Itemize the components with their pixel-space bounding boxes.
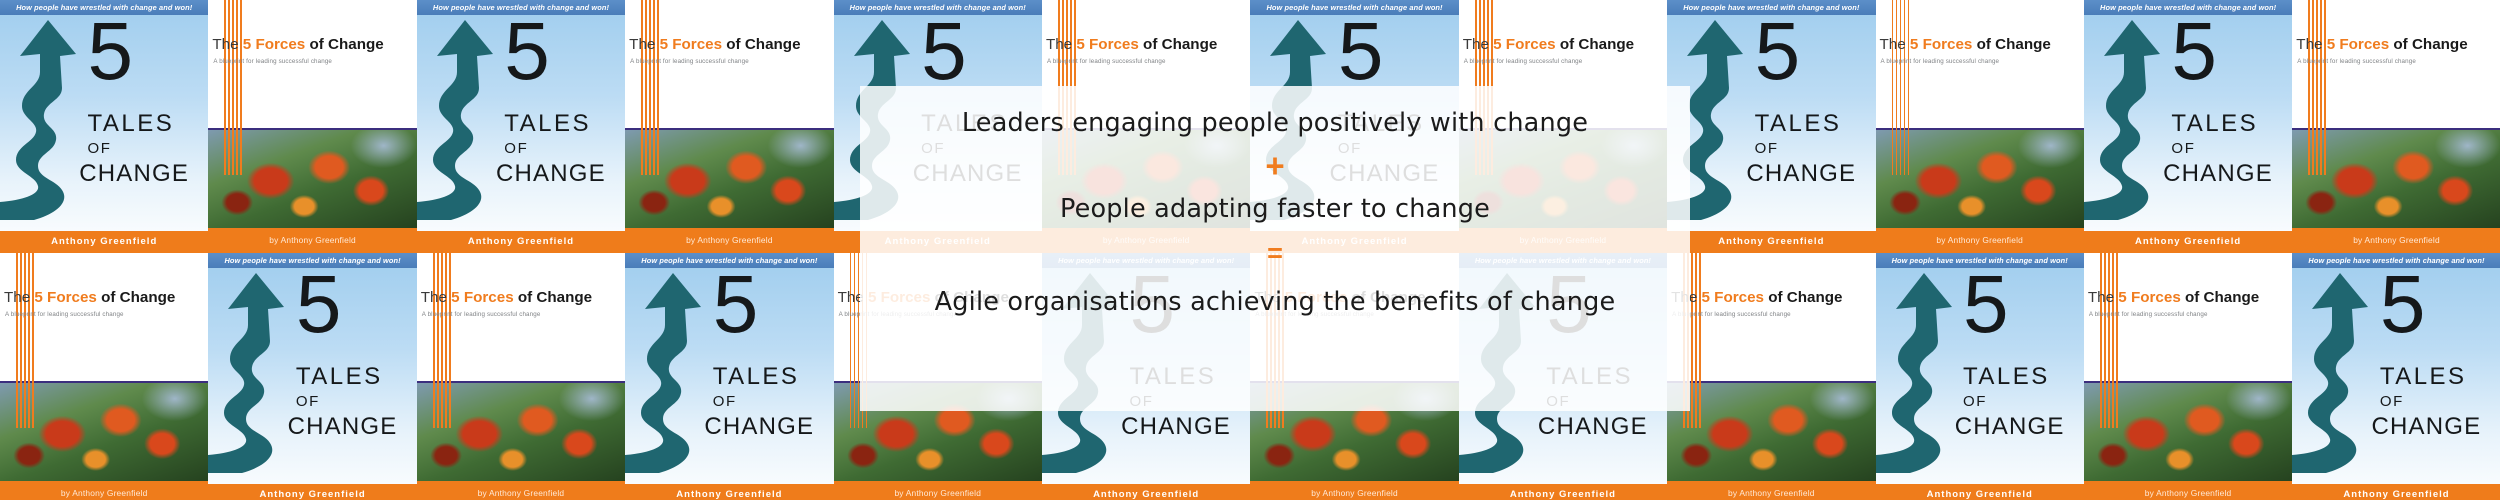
cover-word-tales: TALES (1963, 363, 2080, 391)
equation-overlay-panel: Leaders engaging people positively with … (860, 86, 1690, 411)
cover-word-change: CHANGE (2163, 160, 2292, 188)
cover-word-tales: TALES (88, 110, 205, 138)
cover-author-bar: Anthony Greenfield (2084, 231, 2292, 253)
cover-title-of-change: of Change (1556, 36, 1634, 53)
cover-word-change: CHANGE (704, 413, 833, 441)
cover-title: The 5 Forces of Change (4, 289, 204, 306)
cover-subtitle: A blueprint for leading successful chang… (5, 311, 204, 318)
plus-operator-icon: + (1265, 149, 1284, 182)
screenshot-canvas: How people have wrestled with change and… (0, 0, 2500, 500)
cover-title: The 5 Forces of Change (2088, 289, 2288, 306)
orange-stripes-icon (1892, 0, 1912, 175)
cover-title-of-change: of Change (1139, 36, 1217, 53)
cover-title-the: The (1046, 36, 1076, 53)
book-cover-5-tales-of-change[interactable]: How people have wrestled with change and… (2084, 0, 2292, 253)
cover-title-of-change: of Change (305, 36, 383, 53)
cover-title-five-forces: 5 Forces (243, 36, 305, 53)
cover-title: The 5 Forces of Change (1880, 36, 2080, 53)
cover-word-tales: TALES (2171, 110, 2288, 138)
cover-title: The 5 Forces of Change (629, 36, 829, 53)
cover-title-five-forces: 5 Forces (34, 289, 96, 306)
equation-line-2: People adapting faster to change (860, 194, 1690, 224)
cover-word-of: OF (1963, 393, 2080, 410)
cover-title-five-forces: 5 Forces (2118, 289, 2180, 306)
cover-word-change: CHANGE (1538, 413, 1667, 441)
cover-word-change: CHANGE (288, 413, 417, 441)
cover-author-bar: by Anthony Greenfield (1667, 481, 1875, 500)
orange-stripes-icon (433, 253, 453, 428)
book-cover-5-forces-of-change[interactable]: The 5 Forces of Change A blueprint for l… (1667, 253, 1875, 500)
cover-title-the: The (212, 36, 242, 53)
cover-subtitle: A blueprint for leading successful chang… (2089, 311, 2288, 318)
cover-subtitle: A blueprint for leading successful chang… (1464, 58, 1663, 65)
book-cover-5-forces-of-change[interactable]: The 5 Forces of Change A blueprint for l… (625, 0, 833, 253)
cover-word-of: OF (296, 393, 413, 410)
book-cover-5-tales-of-change[interactable]: How people have wrestled with change and… (208, 253, 416, 500)
book-cover-5-forces-of-change[interactable]: The 5 Forces of Change A blueprint for l… (208, 0, 416, 253)
cover-author-bar: Anthony Greenfield (0, 231, 208, 253)
cover-word-tales: TALES (504, 110, 621, 138)
cover-big-number: 5 (921, 16, 1042, 88)
cover-title-the: The (1463, 36, 1493, 53)
orange-stripes-icon (224, 0, 244, 175)
cover-title: The 5 Forces of Change (1671, 289, 1871, 306)
cover-author-bar: by Anthony Greenfield (208, 228, 416, 253)
cover-word-of: OF (1755, 140, 1872, 157)
cover-title-five-forces: 5 Forces (2327, 36, 2389, 53)
cover-author-bar: by Anthony Greenfield (1250, 481, 1458, 500)
cover-subtitle: A blueprint for leading successful chang… (1881, 58, 2080, 65)
cover-title-the: The (629, 36, 659, 53)
cover-title-five-forces: 5 Forces (660, 36, 722, 53)
cover-word-of: OF (713, 393, 830, 410)
cover-big-number: 5 (2171, 16, 2292, 88)
cover-title-of-change: of Change (514, 289, 592, 306)
cover-title: The 5 Forces of Change (212, 36, 412, 53)
cover-title-five-forces: 5 Forces (1702, 289, 1764, 306)
cover-title: The 5 Forces of Change (2296, 36, 2496, 53)
book-cover-5-tales-of-change[interactable]: How people have wrestled with change and… (1876, 253, 2084, 500)
cover-big-number: 5 (1338, 16, 1459, 88)
book-cover-5-forces-of-change[interactable]: The 5 Forces of Change A blueprint for l… (2084, 253, 2292, 500)
orange-stripes-icon (2308, 0, 2328, 175)
book-cover-5-tales-of-change[interactable]: How people have wrestled with change and… (417, 0, 625, 253)
cover-big-number: 5 (1963, 269, 2084, 341)
cover-author-bar: by Anthony Greenfield (1876, 228, 2084, 253)
cover-author-bar: Anthony Greenfield (2292, 484, 2500, 500)
cover-word-change: CHANGE (2371, 413, 2500, 441)
cover-word-change: CHANGE (1121, 413, 1250, 441)
cover-word-change: CHANGE (1746, 160, 1875, 188)
cover-author-bar: by Anthony Greenfield (625, 228, 833, 253)
cover-subtitle: A blueprint for leading successful chang… (1047, 58, 1246, 65)
equation-line-1: Leaders engaging people positively with … (860, 108, 1690, 138)
cover-title: The 5 Forces of Change (1046, 36, 1246, 53)
cover-title: The 5 Forces of Change (1463, 36, 1663, 53)
cover-word-change: CHANGE (496, 160, 625, 188)
cover-word-change: CHANGE (79, 160, 208, 188)
book-cover-5-tales-of-change[interactable]: How people have wrestled with change and… (0, 0, 208, 253)
cover-author-bar: by Anthony Greenfield (0, 481, 208, 500)
cover-author-bar: Anthony Greenfield (625, 484, 833, 500)
cover-word-of: OF (2171, 140, 2288, 157)
orange-stripes-icon (641, 0, 661, 175)
cover-big-number: 5 (504, 16, 625, 88)
cover-title-of-change: of Change (1972, 36, 2050, 53)
cover-author-bar: Anthony Greenfield (1667, 231, 1875, 253)
cover-word-of: OF (2380, 393, 2497, 410)
cover-big-number: 5 (713, 269, 834, 341)
cover-title-of-change: of Change (722, 36, 800, 53)
cover-word-tales: TALES (296, 363, 413, 391)
cover-author-bar: by Anthony Greenfield (2292, 228, 2500, 253)
book-cover-5-tales-of-change[interactable]: How people have wrestled with change and… (625, 253, 833, 500)
book-cover-5-forces-of-change[interactable]: The 5 Forces of Change A blueprint for l… (2292, 0, 2500, 253)
cover-title-five-forces: 5 Forces (1076, 36, 1138, 53)
cover-author-bar: Anthony Greenfield (208, 484, 416, 500)
cover-word-tales: TALES (1755, 110, 1872, 138)
cover-title-five-forces: 5 Forces (1910, 36, 1972, 53)
cover-big-number: 5 (88, 16, 209, 88)
cover-title-of-change: of Change (97, 289, 175, 306)
cover-author-bar: Anthony Greenfield (1876, 484, 2084, 500)
cover-title-five-forces: 5 Forces (451, 289, 513, 306)
cover-author-bar: Anthony Greenfield (1042, 484, 1250, 500)
cover-word-of: OF (504, 140, 621, 157)
equation-line-3: Agile organisations achieving the benefi… (860, 287, 1690, 317)
cover-subtitle: A blueprint for leading successful chang… (1672, 311, 1871, 318)
cover-title-the: The (1880, 36, 1910, 53)
cover-title-of-change: of Change (2181, 289, 2259, 306)
cover-big-number: 5 (2380, 269, 2500, 341)
book-cover-5-tales-of-change[interactable]: How people have wrestled with change and… (1667, 0, 1875, 253)
book-cover-5-forces-of-change[interactable]: The 5 Forces of Change A blueprint for l… (1876, 0, 2084, 253)
cover-title-the: The (2088, 289, 2118, 306)
book-cover-5-forces-of-change[interactable]: The 5 Forces of Change A blueprint for l… (417, 253, 625, 500)
cover-title-five-forces: 5 Forces (1493, 36, 1555, 53)
cover-author-bar: by Anthony Greenfield (417, 481, 625, 500)
cover-subtitle: A blueprint for leading successful chang… (630, 58, 829, 65)
equals-operator-icon: = (1267, 240, 1283, 267)
book-cover-5-forces-of-change[interactable]: The 5 Forces of Change A blueprint for l… (0, 253, 208, 500)
cover-word-change: CHANGE (1955, 413, 2084, 441)
cover-big-number: 5 (296, 269, 417, 341)
orange-stripes-icon (2100, 253, 2120, 428)
cover-author-bar: Anthony Greenfield (417, 231, 625, 253)
cover-title-the: The (421, 289, 451, 306)
cover-word-tales: TALES (713, 363, 830, 391)
cover-title-of-change: of Change (1764, 289, 1842, 306)
cover-title-the: The (2296, 36, 2326, 53)
cover-big-number: 5 (1755, 16, 1876, 88)
cover-title: The 5 Forces of Change (421, 289, 621, 306)
cover-author-bar: Anthony Greenfield (1459, 484, 1667, 500)
cover-title-the: The (4, 289, 34, 306)
cover-author-bar: by Anthony Greenfield (834, 481, 1042, 500)
cover-title-of-change: of Change (2389, 36, 2467, 53)
book-cover-5-tales-of-change[interactable]: How people have wrestled with change and… (2292, 253, 2500, 500)
orange-stripes-icon (16, 253, 36, 428)
cover-subtitle: A blueprint for leading successful chang… (213, 58, 412, 65)
cover-word-tales: TALES (2380, 363, 2497, 391)
cover-word-of: OF (88, 140, 205, 157)
cover-author-bar: by Anthony Greenfield (2084, 481, 2292, 500)
cover-subtitle: A blueprint for leading successful chang… (422, 311, 621, 318)
cover-subtitle: A blueprint for leading successful chang… (2297, 58, 2496, 65)
